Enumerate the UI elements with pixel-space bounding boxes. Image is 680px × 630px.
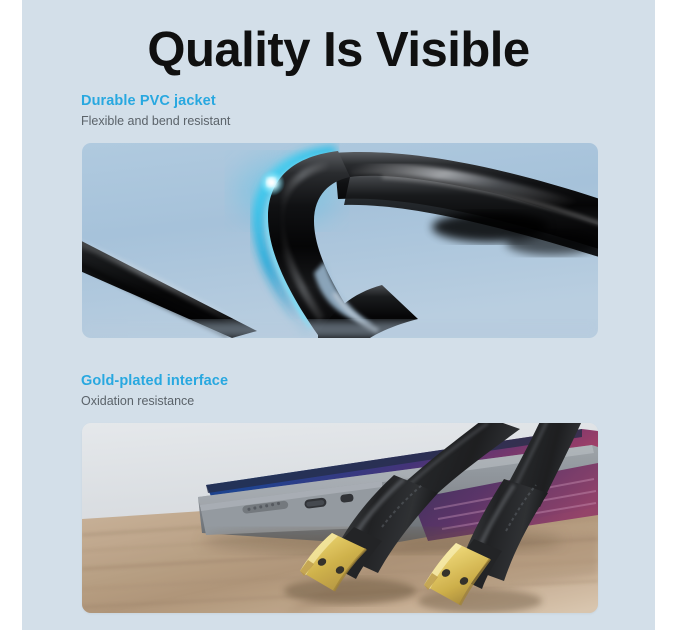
page-title: Quality Is Visible	[22, 22, 655, 78]
feature-image-pvc-jacket	[82, 143, 598, 338]
feature-block-gold-plated: Gold-plated interface Oxidation resistan…	[81, 372, 641, 409]
displayport-connectors-illustration	[82, 423, 598, 613]
feature-image-gold-plated	[82, 423, 598, 613]
feature-title: Durable PVC jacket	[81, 92, 641, 110]
feature-subtitle: Flexible and bend resistant	[81, 113, 641, 129]
feature-title: Gold-plated interface	[81, 372, 641, 390]
content-panel: Quality Is Visible Durable PVC jacket Fl…	[22, 0, 655, 630]
feature-block-pvc-jacket: Durable PVC jacket Flexible and bend res…	[81, 92, 641, 129]
cable-bend-illustration	[82, 143, 598, 338]
product-feature-page: Quality Is Visible Durable PVC jacket Fl…	[0, 0, 680, 630]
feature-subtitle: Oxidation resistance	[81, 393, 641, 409]
